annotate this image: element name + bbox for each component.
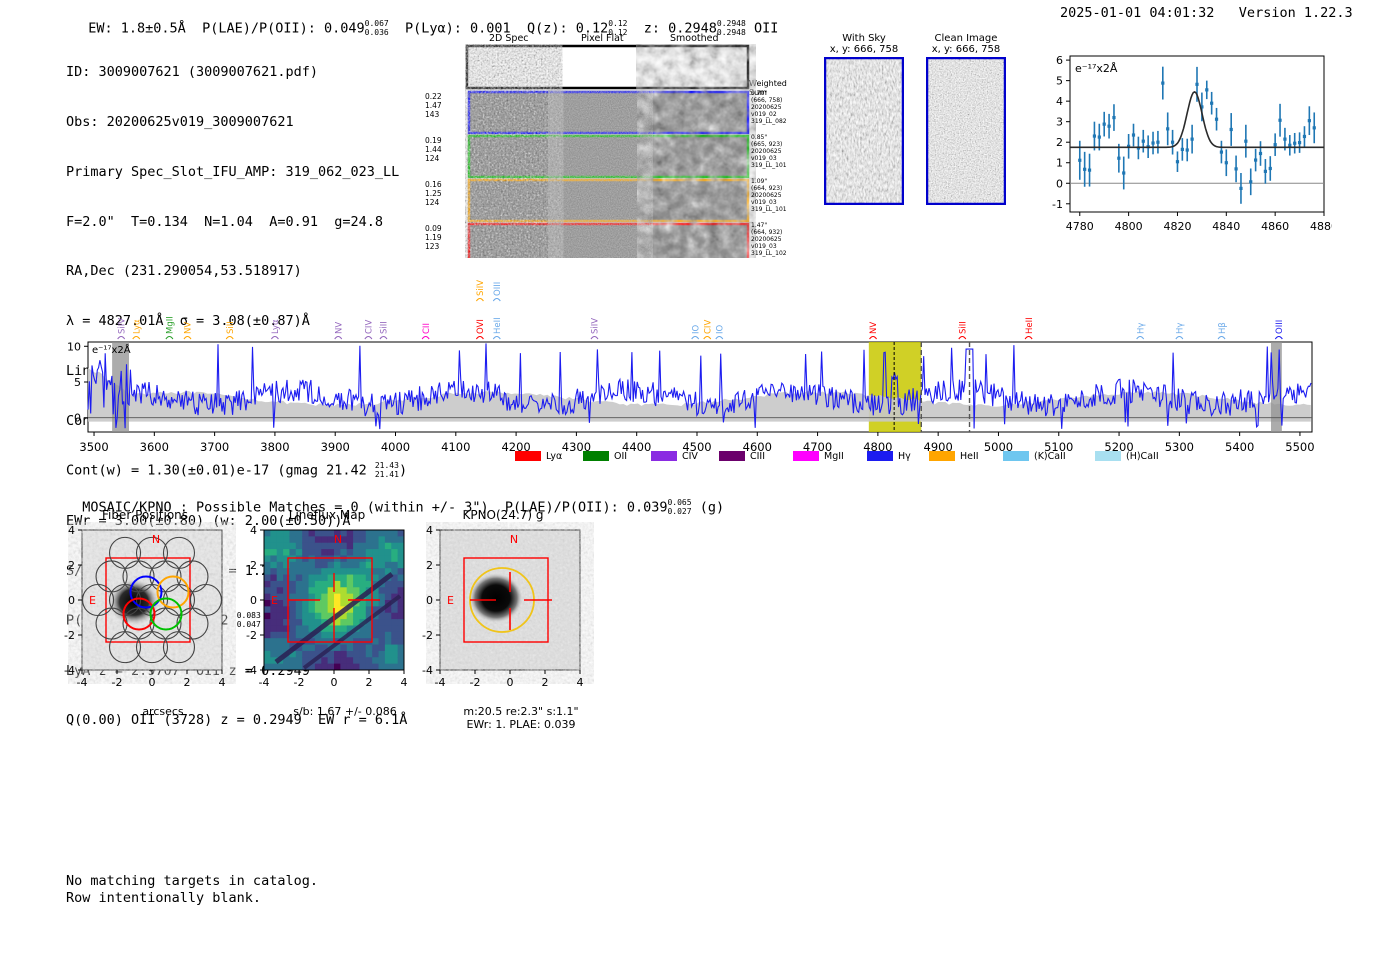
- svg-text:SiIV: SiIV: [117, 318, 127, 334]
- svg-text:5300: 5300: [1165, 440, 1194, 454]
- svg-text:4: 4: [577, 676, 584, 689]
- svg-text:-2: -2: [246, 629, 257, 642]
- svg-text:-4: -4: [64, 664, 75, 677]
- spec2d-row-1-meta: 0.85" (665, 923) 20200625 v019_03 319_LL…: [751, 134, 787, 169]
- svg-text:-4: -4: [77, 676, 88, 689]
- svg-text:IO: IO: [691, 324, 701, 334]
- svg-text:Lyα: Lyα: [271, 319, 281, 334]
- svg-text:5400: 5400: [1225, 440, 1254, 454]
- svg-text:2: 2: [366, 676, 373, 689]
- svg-text:NV: NV: [869, 322, 879, 334]
- svg-text:4800: 4800: [1115, 220, 1143, 233]
- svg-text:MgII: MgII: [166, 316, 176, 334]
- svg-text:N: N: [510, 533, 518, 546]
- spec2d-row-0-left-values: 0.22 1.47 143: [425, 92, 442, 119]
- svg-text:SiII: SiII: [958, 321, 968, 334]
- svg-text:HeII: HeII: [493, 317, 503, 334]
- svg-text:OIII: OIII: [493, 282, 503, 296]
- cutout-with-sky-title: With Sky: [824, 33, 904, 44]
- svg-text:-2: -2: [422, 629, 433, 642]
- svg-text:-4: -4: [422, 664, 433, 677]
- thumbnail-lineflux-title: Lineflux Map: [232, 508, 422, 522]
- spec2d-images: [465, 33, 770, 258]
- svg-text:SiIV: SiIV: [476, 280, 486, 296]
- svg-text:0: 0: [68, 594, 75, 607]
- timestamp-version: 2025-01-01 04:01:32 Version 1.22.3: [1060, 5, 1353, 21]
- svg-text:3700: 3700: [200, 440, 229, 454]
- svg-text:5500: 5500: [1285, 440, 1314, 454]
- svg-text:HeII: HeII: [960, 451, 979, 462]
- svg-text:N: N: [152, 533, 160, 546]
- svg-text:CIII: CIII: [750, 451, 765, 462]
- svg-text:-2: -2: [64, 629, 75, 642]
- svg-text:-2: -2: [470, 676, 481, 689]
- cutout-clean-coords: x, y: 666, 758: [926, 44, 1006, 55]
- svg-text:0: 0: [74, 412, 81, 425]
- svg-text:0: 0: [426, 594, 433, 607]
- info-line-0: ID: 3009007621 (3009007621.pdf): [66, 64, 407, 81]
- svg-text:3500: 3500: [79, 440, 108, 454]
- svg-text:NV: NV: [334, 322, 344, 334]
- svg-text:Hβ: Hβ: [1218, 322, 1228, 334]
- thumbnail-fiber-positions: Fiber Positions NE-4-2024420-2-4 arcsecs: [50, 508, 258, 718]
- svg-text:OVI: OVI: [476, 319, 486, 334]
- svg-text:4000: 4000: [381, 440, 410, 454]
- thumbnail-kpno-sub1: EWr: 1. PLAE: 0.039: [408, 718, 616, 731]
- svg-text:6: 6: [1056, 54, 1063, 67]
- svg-text:4: 4: [68, 524, 75, 537]
- svg-text:(H)CaII: (H)CaII: [1126, 451, 1159, 462]
- svg-text:CIV: CIV: [365, 320, 375, 334]
- svg-text:0: 0: [1056, 177, 1063, 190]
- emission-line-fit-plot: -10123456478048004820484048604880e⁻¹⁷x2Å: [1032, 42, 1332, 254]
- cutout-with-sky: With Sky x, y: 666, 758: [824, 33, 904, 205]
- spec2d-row-3-meta: 1.47" (664, 932) 20200625 v019_03 319_LL…: [751, 222, 787, 257]
- svg-text:4: 4: [426, 524, 433, 537]
- svg-text:Hγ: Hγ: [898, 451, 911, 462]
- spec2d-panel-group: 2D Spec Pixel Flat Smoothed Weighted Sum: [465, 33, 770, 258]
- svg-text:4: 4: [219, 676, 226, 689]
- svg-text:E: E: [89, 594, 96, 607]
- svg-text:4840: 4840: [1212, 220, 1240, 233]
- svg-text:2: 2: [426, 559, 433, 572]
- svg-text:CIV: CIV: [703, 320, 713, 334]
- svg-text:OII: OII: [614, 451, 627, 462]
- svg-text:4780: 4780: [1066, 220, 1094, 233]
- svg-text:2: 2: [68, 559, 75, 572]
- svg-text:(K)CaII: (K)CaII: [1034, 451, 1066, 462]
- svg-text:Hγ: Hγ: [1176, 323, 1186, 334]
- svg-text:0: 0: [507, 676, 514, 689]
- spec2d-row-2-left-values: 0.16 1.25 124: [425, 180, 442, 207]
- svg-text:4860: 4860: [1261, 220, 1289, 233]
- full-spectrum-plot: 0510350036003700380039004000410042004300…: [60, 270, 1320, 470]
- cutout-clean-image: Clean Image x, y: 666, 758: [926, 33, 1006, 205]
- svg-text:0: 0: [149, 676, 156, 689]
- info-line-2: Primary Spec_Slot_IFU_AMP: 319_062_023_L…: [66, 164, 407, 181]
- svg-text:HeII: HeII: [1025, 317, 1035, 334]
- thumbnail-fiber-title: Fiber Positions: [50, 508, 240, 522]
- svg-text:2: 2: [184, 676, 191, 689]
- svg-text:-4: -4: [246, 664, 257, 677]
- svg-text:4100: 4100: [441, 440, 470, 454]
- svg-text:-4: -4: [435, 676, 446, 689]
- thumbnail-kpno-title: KPNO(24.7) g: [408, 508, 598, 522]
- svg-text:MgII: MgII: [824, 451, 844, 462]
- svg-text:3: 3: [1056, 116, 1063, 129]
- svg-text:-2: -2: [112, 676, 123, 689]
- svg-text:3900: 3900: [321, 440, 350, 454]
- svg-text:1: 1: [1056, 157, 1063, 170]
- svg-text:CII: CII: [422, 323, 432, 334]
- spec2d-row-2-meta: 1.09" (664, 923) 20200625 v019_03 319_LL…: [751, 178, 787, 213]
- svg-text:0: 0: [331, 676, 338, 689]
- svg-text:N: N: [334, 533, 342, 546]
- info-line-3: F=2.0" T=0.134 N=1.04 A=0.91 g=24.8: [66, 214, 407, 231]
- thumbnail-kpno-sub0: m:20.5 re:2.3" s:1.1": [408, 705, 616, 718]
- footer-line-2: Row intentionally blank.: [66, 890, 318, 907]
- svg-text:Lyα: Lyα: [132, 319, 142, 334]
- svg-text:E: E: [447, 594, 454, 607]
- footer-line-1: No matching targets in catalog.: [66, 873, 318, 890]
- svg-text:CIV: CIV: [682, 451, 698, 462]
- svg-text:2: 2: [250, 559, 257, 572]
- cutout-clean-title: Clean Image: [926, 33, 1006, 44]
- svg-text:0: 0: [250, 594, 257, 607]
- svg-text:2: 2: [1056, 136, 1063, 149]
- svg-text:4820: 4820: [1163, 220, 1191, 233]
- svg-text:SiIV: SiIV: [591, 318, 601, 334]
- svg-text:Hγ: Hγ: [1136, 323, 1146, 334]
- thumbnail-fiber-xlabel: arcsecs: [50, 705, 258, 718]
- svg-text:4: 4: [1056, 95, 1063, 108]
- svg-text:NV: NV: [184, 322, 194, 334]
- info-line-1: Obs: 20200625v019_3009007621: [66, 114, 407, 131]
- svg-text:Lyα: Lyα: [546, 451, 562, 462]
- svg-text:3600: 3600: [140, 440, 169, 454]
- spec2d-row-3-left-values: 0.09 1.19 123: [425, 224, 442, 251]
- svg-text:OIII: OIII: [1275, 320, 1285, 334]
- svg-text:e⁻¹⁷x2Å: e⁻¹⁷x2Å: [1075, 62, 1118, 75]
- svg-text:4: 4: [401, 676, 408, 689]
- spec2d-row-0-meta: 0.70" (666, 758) 20200625 v019_02 319_LL…: [751, 90, 787, 125]
- svg-text:-4: -4: [259, 676, 270, 689]
- svg-text:e⁻¹⁷x2Å: e⁻¹⁷x2Å: [92, 343, 131, 356]
- svg-text:-2: -2: [294, 676, 305, 689]
- svg-text:2: 2: [542, 676, 549, 689]
- svg-text:IO: IO: [715, 324, 725, 334]
- svg-text:SiII: SiII: [380, 321, 390, 334]
- catalog-plae-range: 0.0650.027: [667, 499, 691, 516]
- svg-text:10: 10: [67, 340, 81, 353]
- svg-text:-1: -1: [1052, 198, 1063, 211]
- svg-text:5: 5: [1056, 75, 1063, 88]
- svg-text:SiII: SiII: [226, 321, 236, 334]
- thumbnail-kpno: KPNO(24.7) g NE-4-2024420-2-4 m:20.5 re:…: [408, 508, 616, 731]
- svg-text:E: E: [271, 594, 278, 607]
- svg-text:4880: 4880: [1310, 220, 1332, 233]
- footer-note: No matching targets in catalog. Row inte…: [66, 873, 318, 907]
- cutout-with-sky-coords: x, y: 666, 758: [824, 44, 904, 55]
- svg-text:3800: 3800: [260, 440, 289, 454]
- svg-text:5: 5: [74, 376, 81, 389]
- spec2d-row-1-left-values: 0.19 1.44 124: [425, 136, 442, 163]
- svg-text:4: 4: [250, 524, 257, 537]
